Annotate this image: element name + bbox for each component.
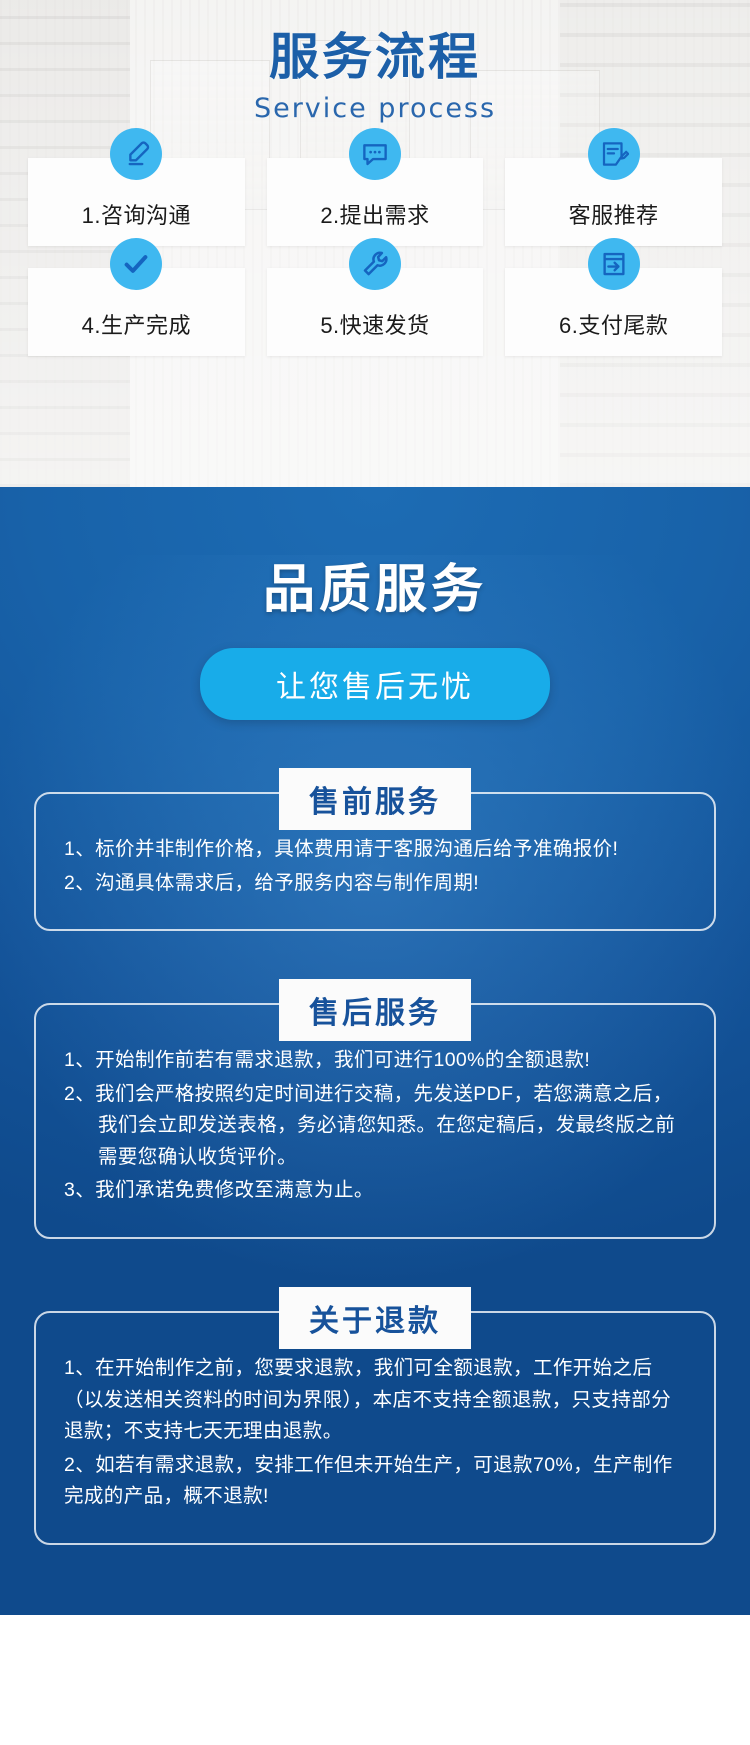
- process-step-label: 客服推荐: [569, 198, 659, 230]
- process-step-4[interactable]: 4.生产完成: [28, 268, 245, 356]
- chat-bubble-icon: [349, 128, 401, 180]
- page-subtitle: Service process: [0, 93, 750, 124]
- list-item: 2、如若有需求退款，安排工作但未开始生产，可退款70%，生产制作完成的产品，概不…: [64, 1450, 686, 1513]
- list-item: 2、沟通具体需求后，给予服务内容与制作周期!: [64, 868, 686, 900]
- refund-policy-list: 1、在开始制作之前，您要求退款，我们可全额退款，工作开始之后（以发送相关资料的时…: [64, 1353, 686, 1513]
- process-step-6[interactable]: 6.支付尾款: [505, 268, 722, 356]
- after-sales-panel: 售后服务 1、开始制作前若有需求退款，我们可进行100%的全额退款! 2、我们会…: [34, 1003, 716, 1239]
- quality-title: 品质服务: [0, 547, 750, 622]
- process-step-label: 6.支付尾款: [559, 308, 668, 340]
- process-header: 服务流程 Service process: [0, 0, 750, 124]
- process-step-1[interactable]: 1.咨询沟通: [28, 158, 245, 246]
- pre-sales-list: 1、标价并非制作价格，具体费用请于客服沟通后给予准确报价! 2、沟通具体需求后，…: [64, 834, 686, 899]
- list-item: 1、标价并非制作价格，具体费用请于客服沟通后给予准确报价!: [64, 834, 686, 866]
- process-step-5[interactable]: 5.快速发货: [267, 268, 484, 356]
- arrow-into-box-icon: [588, 238, 640, 290]
- process-step-3[interactable]: 客服推荐: [505, 158, 722, 246]
- process-step-label: 1.咨询沟通: [82, 198, 191, 230]
- after-sales-badge: 售后服务: [279, 979, 471, 1041]
- after-sales-list: 1、开始制作前若有需求退款，我们可进行100%的全额退款! 2、我们会严格按照约…: [64, 1045, 686, 1207]
- process-step-label: 2.提出需求: [320, 198, 429, 230]
- list-item: 1、在开始制作之前，您要求退款，我们可全额退款，工作开始之后（以发送相关资料的时…: [64, 1353, 686, 1448]
- wrench-icon: [349, 238, 401, 290]
- process-steps-grid: 1.咨询沟通 2.提出需求 客服推荐: [0, 158, 750, 356]
- pre-sales-panel: 售前服务 1、标价并非制作价格，具体费用请于客服沟通后给予准确报价! 2、沟通具…: [34, 792, 716, 931]
- service-process-section: 服务流程 Service process 1.咨询沟通 2.: [0, 0, 750, 487]
- page-title: 服务流程: [0, 30, 750, 85]
- document-edit-icon: [588, 128, 640, 180]
- list-item: 1、开始制作前若有需求退款，我们可进行100%的全额退款!: [64, 1045, 686, 1077]
- list-item: 3、我们承诺免费修改至满意为止。: [64, 1175, 686, 1207]
- refund-policy-badge: 关于退款: [279, 1287, 471, 1349]
- refund-policy-panel: 关于退款 1、在开始制作之前，您要求退款，我们可全额退款，工作开始之后（以发送相…: [34, 1311, 716, 1545]
- list-item: 2、我们会严格按照约定时间进行交稿，先发送PDF，若您满意之后，我们会立即发送表…: [64, 1079, 686, 1174]
- quality-pill-badge: 让您售后无忧: [200, 648, 550, 720]
- pencil-icon: [110, 128, 162, 180]
- process-step-label: 5.快速发货: [320, 308, 429, 340]
- check-icon: [110, 238, 162, 290]
- process-step-2[interactable]: 2.提出需求: [267, 158, 484, 246]
- quality-pill-wrapper: 让您售后无忧: [0, 648, 750, 720]
- quality-service-section: 品质服务 让您售后无忧 售前服务 1、标价并非制作价格，具体费用请于客服沟通后给…: [0, 487, 750, 1615]
- pre-sales-badge: 售前服务: [279, 768, 471, 830]
- process-step-label: 4.生产完成: [82, 308, 191, 340]
